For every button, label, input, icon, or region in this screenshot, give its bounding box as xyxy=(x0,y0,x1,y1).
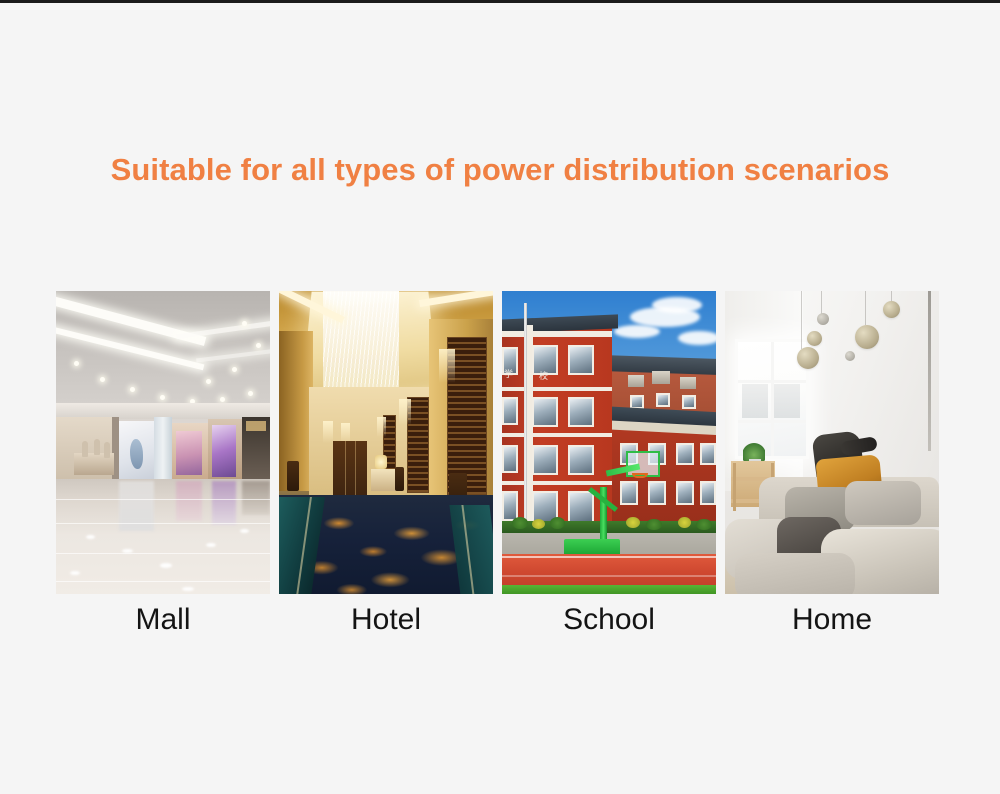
scenario-label-home: Home xyxy=(725,603,939,636)
scenario-card-mall[interactable]: Mall xyxy=(56,291,270,636)
scenario-label-mall: Mall xyxy=(56,603,270,636)
page-title: Suitable for all types of power distribu… xyxy=(0,152,1000,188)
scenario-label-school: School xyxy=(502,603,716,636)
school-facade-glyph: 校 xyxy=(539,373,548,382)
school-building-photo: 校 学 xyxy=(502,291,716,594)
home-living-room-photo xyxy=(725,291,939,594)
mall-interior-photo xyxy=(56,291,270,594)
school-facade-glyph: 学 xyxy=(504,371,513,380)
scenario-card-list: Mall xyxy=(56,291,944,636)
scenario-section: Suitable for all types of power distribu… xyxy=(0,0,1000,794)
scenario-card-hotel[interactable]: Hotel xyxy=(279,291,493,636)
scenario-card-school[interactable]: 校 学 xyxy=(502,291,716,636)
hotel-corridor-photo xyxy=(279,291,493,594)
scenario-card-home[interactable]: Home xyxy=(725,291,939,636)
scenario-label-hotel: Hotel xyxy=(279,603,493,636)
